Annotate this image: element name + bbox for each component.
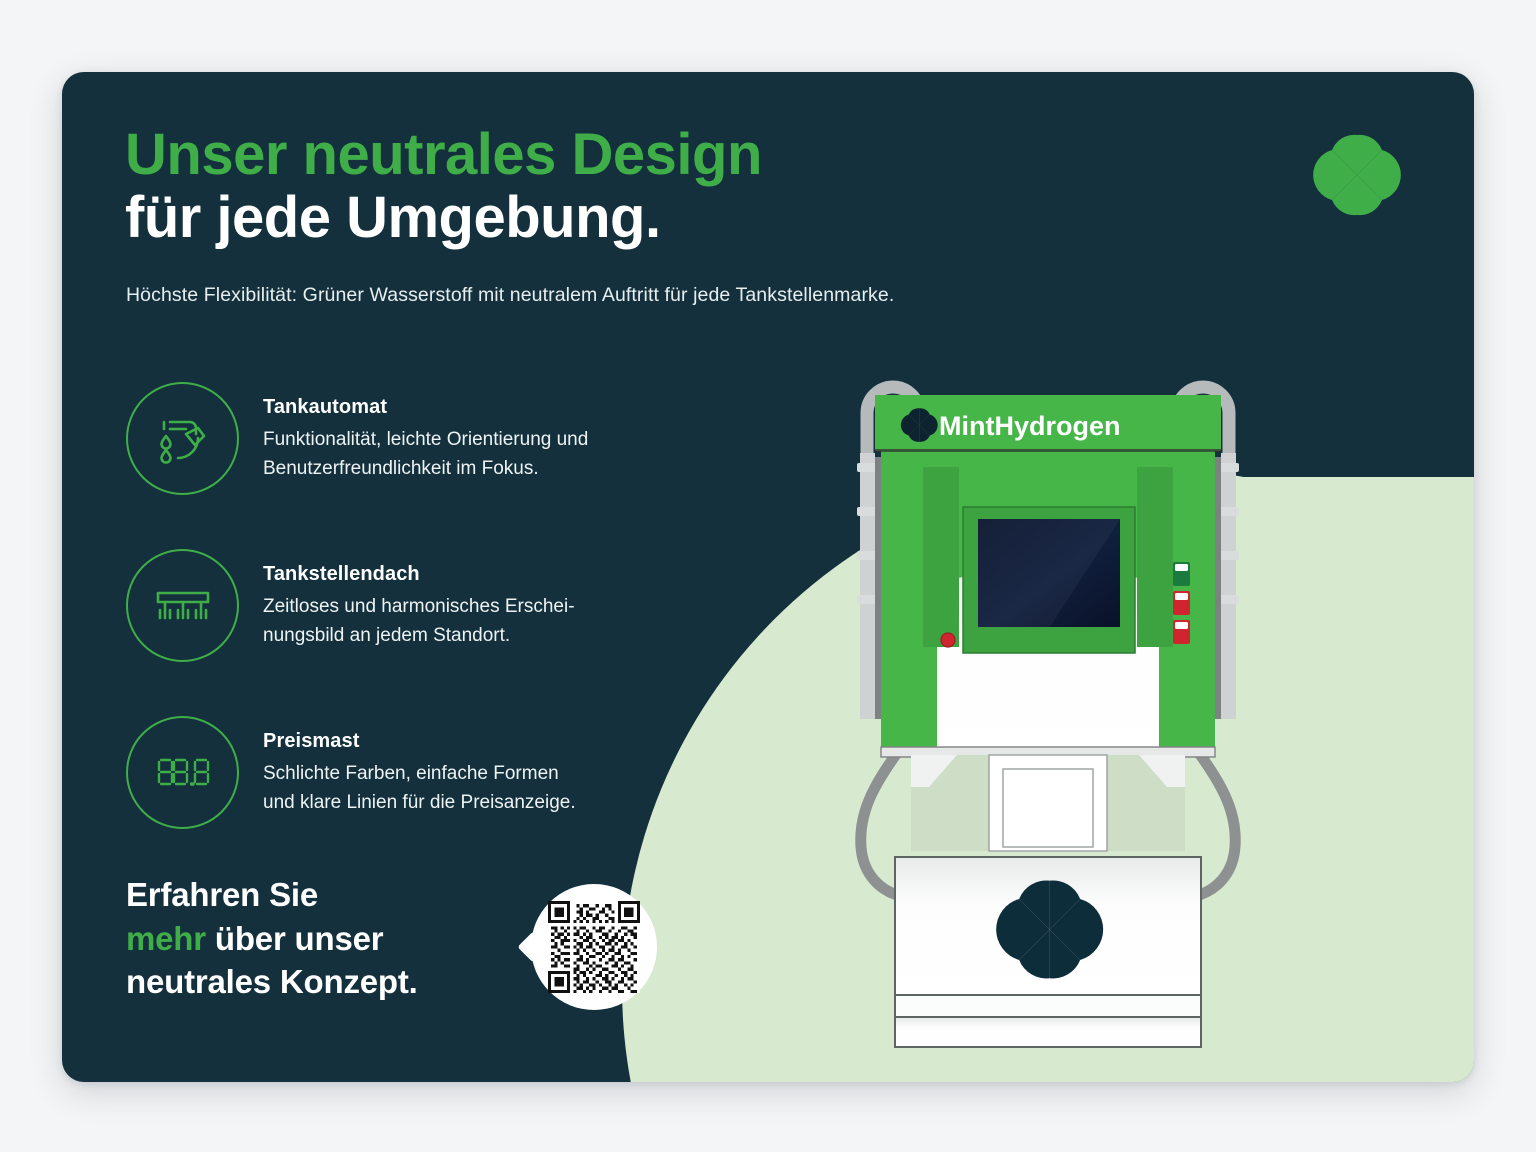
feature-item-tankautomat: Tankautomat Funktionalität, leichte Orie…: [126, 382, 746, 495]
call-to-action: Erfahren Sie mehr über unser neutrales K…: [126, 873, 556, 1004]
cta-accent-word: mehr: [126, 920, 206, 957]
feature-text: Tankstellendach Zeitloses und harmonisch…: [263, 549, 575, 651]
hydrogen-fuel-pump-illustration: MintHydrogen: [813, 357, 1283, 1057]
marketing-card: Unser neutrales Design für jede Umgebung…: [62, 72, 1474, 1082]
feature-text: Tankautomat Funktionalität, leichte Orie…: [263, 382, 588, 484]
cta-line-2: mehr über unser: [126, 917, 556, 961]
pump-brand-name: MintHydrogen: [939, 411, 1121, 441]
qr-code-bubble[interactable]: [531, 884, 657, 1010]
feature-desc-line-2: nungsbild an jedem Standort.: [263, 621, 575, 650]
qr-code-icon[interactable]: [548, 901, 640, 993]
feature-desc-line-1: Zeitloses und harmonisches Erschei-: [263, 592, 575, 621]
feature-desc-line-2: und klare Linien für die Preisanzeige.: [263, 788, 576, 817]
subtitle: Höchste Flexibilität: Grüner Wasserstoff…: [126, 284, 894, 307]
feature-description: Schlichte Farben, einfache Formen und kl…: [263, 759, 576, 818]
feature-desc-line-1: Schlichte Farben, einfache Formen: [263, 759, 576, 788]
feature-desc-line-2: Benutzerfreundlichkeit im Fokus.: [263, 454, 588, 483]
feature-item-tankstellendach: Tankstellendach Zeitloses und harmonisch…: [126, 549, 746, 662]
pump-machine-body: MintHydrogen: [875, 395, 1221, 1047]
feature-description: Zeitloses und harmonisches Erschei- nung…: [263, 592, 575, 651]
cta-line-1: Erfahren Sie: [126, 873, 556, 917]
headline-line-2: für jede Umgebung.: [125, 188, 762, 247]
fuel-nozzle-drops-icon: [126, 382, 239, 495]
page-title: Unser neutrales Design für jede Umgebung…: [125, 125, 762, 247]
headline-line-1: Unser neutrales Design: [125, 125, 762, 184]
pump-power-indicator: [941, 633, 955, 647]
canopy-roof-icon: [126, 549, 239, 662]
feature-list: Tankautomat Funktionalität, leichte Orie…: [126, 382, 746, 829]
seven-segment-price-display-icon: [126, 716, 239, 829]
cta-line-3: neutrales Konzept.: [126, 960, 556, 1004]
cta-line-2-rest: über unser: [206, 920, 384, 957]
feature-title: Tankautomat: [263, 396, 588, 419]
feature-text: Preismast Schlichte Farben, einfache For…: [263, 716, 576, 818]
pump-status-leds: [1173, 562, 1190, 644]
feature-title: Tankstellendach: [263, 563, 575, 586]
minthydrogen-logo-icon: [1304, 132, 1410, 218]
feature-desc-line-1: Funktionalität, leichte Orientierung und: [263, 425, 588, 454]
feature-description: Funktionalität, leichte Orientierung und…: [263, 425, 588, 484]
infographic-canvas: Unser neutrales Design für jede Umgebung…: [0, 0, 1536, 1152]
feature-title: Preismast: [263, 730, 576, 753]
feature-item-preismast: Preismast Schlichte Farben, einfache For…: [126, 716, 746, 829]
